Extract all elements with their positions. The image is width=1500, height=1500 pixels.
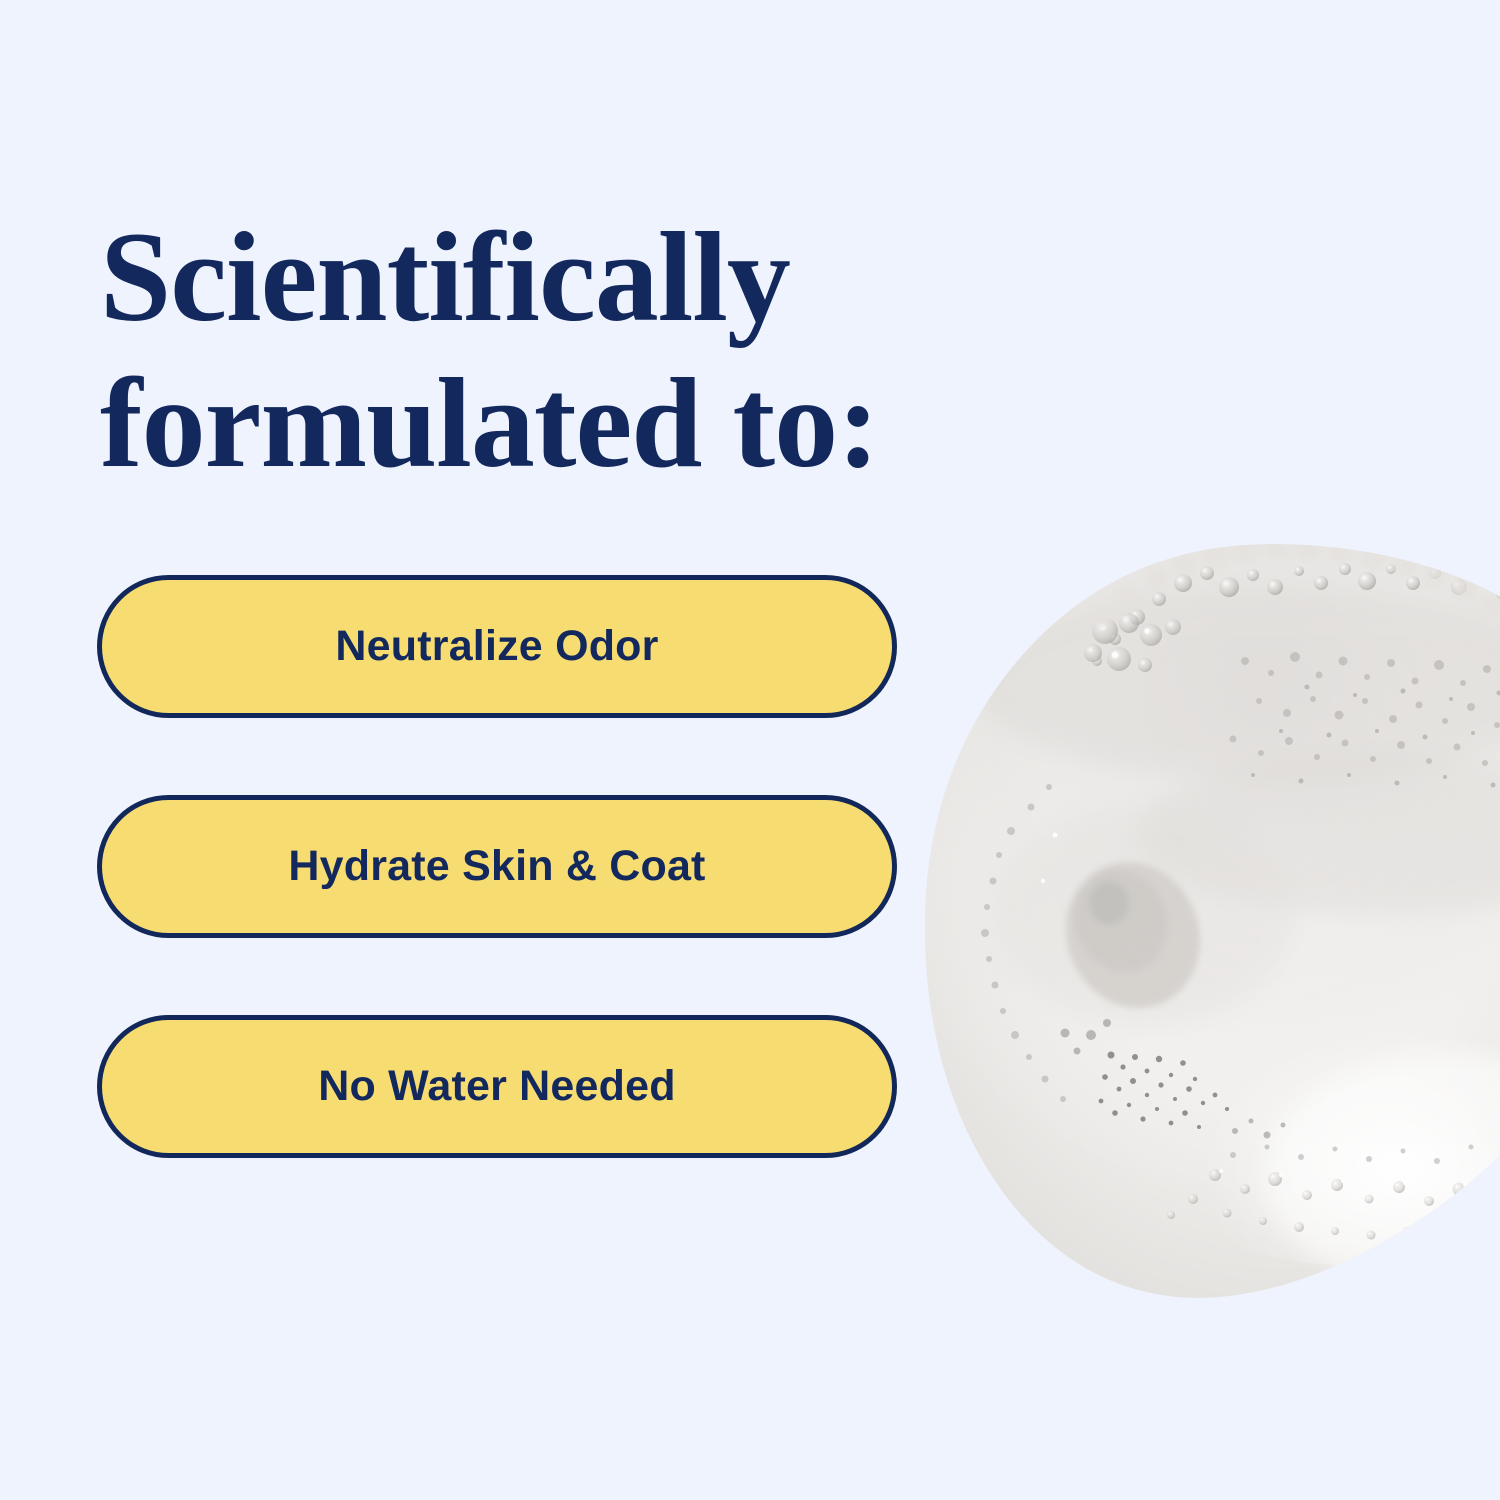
benefit-pill-hydrate-skin-and-coat[interactable]: Hydrate Skin & Coat (97, 795, 897, 938)
benefit-pill-label: No Water Needed (318, 1062, 675, 1111)
foam-blob-image (915, 535, 1500, 1335)
benefit-pill-label: Hydrate Skin & Coat (288, 842, 705, 891)
benefit-pill-label: Neutralize Odor (335, 622, 658, 671)
benefit-list: Neutralize Odor Hydrate Skin & Coat No W… (97, 575, 897, 1158)
benefit-pill-no-water-needed[interactable]: No Water Needed (97, 1015, 897, 1158)
foam-blob-icon (915, 535, 1500, 1335)
page-title: Scientifically formulated to: (100, 204, 1000, 496)
benefit-pill-neutralize-odor[interactable]: Neutralize Odor (97, 575, 897, 718)
promo-graphic: Scientifically formulated to: Neutralize… (0, 0, 1500, 1500)
